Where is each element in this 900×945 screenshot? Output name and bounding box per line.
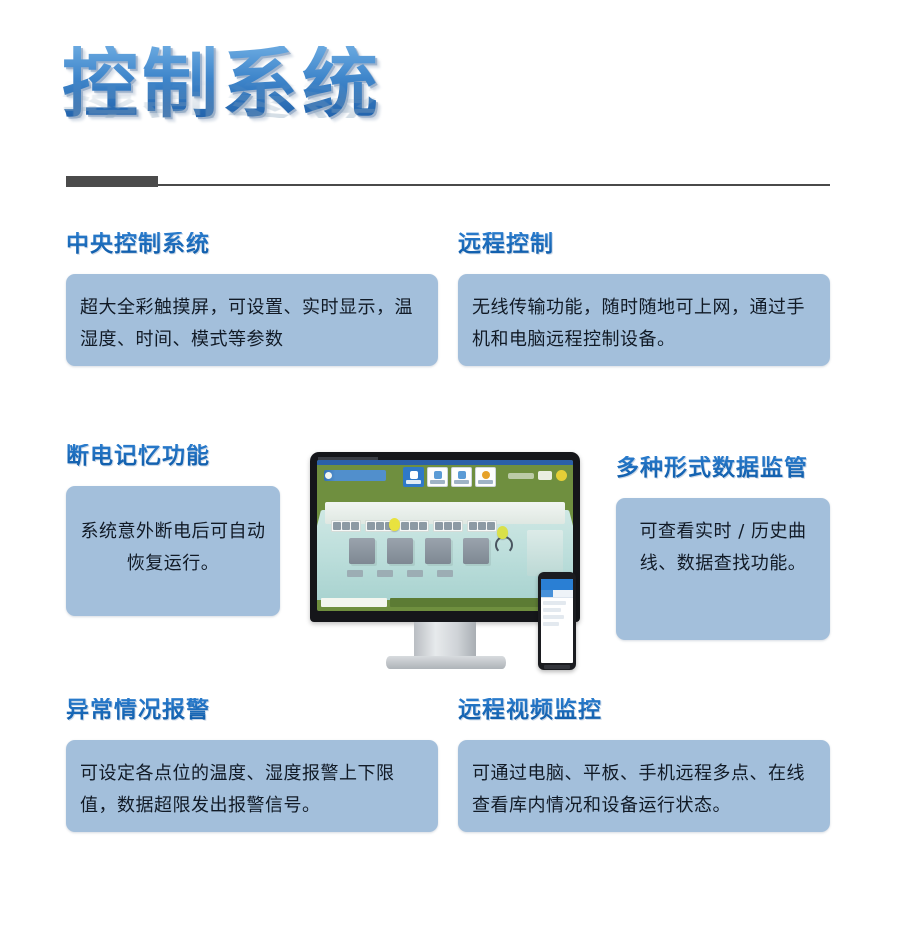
user-chip	[538, 471, 552, 480]
floor-pad	[377, 570, 393, 577]
feature-multi-form-data-supervision: 多种形式数据监管 可查看实时 / 历史曲线、数据查找功能。	[616, 456, 830, 640]
feature-body: 系统意外断电后可自动恢复运行。	[66, 486, 280, 616]
phone-tab-bar[interactable]	[541, 590, 573, 598]
nav-button-1[interactable]	[403, 467, 424, 487]
cabinet	[331, 520, 361, 532]
device-illustration	[310, 452, 595, 677]
monitor-icon	[410, 471, 418, 479]
poster-root: 控制系统 控制系统 中央控制系统 超大全彩触摸屏，可设置、实时显示，温湿度、时间…	[0, 0, 900, 945]
feature-body: 超大全彩触摸屏，可设置、实时显示，温湿度、时间、模式等参数	[66, 274, 438, 366]
nav-button-label	[478, 480, 493, 484]
report-icon	[458, 471, 466, 479]
nav-button-label	[454, 480, 469, 484]
nav-button-4[interactable]	[475, 467, 496, 487]
divider	[66, 176, 830, 188]
feature-body: 可设定各点位的温度、湿度报警上下限值，数据超限发出报警信号。	[66, 740, 438, 832]
feature-abnormal-condition-alarm: 异常情况报警 可设定各点位的温度、湿度报警上下限值，数据超限发出报警信号。	[66, 698, 438, 832]
alarm-icon	[482, 471, 490, 479]
monitor-stand-base	[386, 656, 506, 669]
equipment-unit	[387, 538, 413, 564]
cabinet	[399, 520, 429, 532]
screen-top-bar	[317, 460, 573, 465]
list-item	[543, 601, 566, 605]
list-item	[543, 608, 561, 612]
warehouse-3d-view	[321, 496, 569, 590]
bell-icon[interactable]	[556, 470, 567, 481]
sensor-icon[interactable]	[389, 518, 400, 531]
floor-pad	[437, 570, 453, 577]
data-icon	[434, 471, 442, 479]
dashboard-status-area	[508, 470, 567, 481]
equipment-unit	[349, 538, 375, 564]
feature-title: 多种形式数据监管	[616, 456, 830, 481]
feature-title: 异常情况报警	[66, 698, 438, 723]
warehouse-cabinet-row	[331, 520, 497, 532]
equipment-unit	[463, 538, 489, 564]
phone-list	[541, 598, 573, 632]
page-title-reflection: 控制系统	[62, 78, 482, 118]
phone-screen	[541, 579, 573, 663]
dashboard-logo-icon	[324, 470, 386, 481]
cabinet	[433, 520, 463, 532]
feature-central-control-system: 中央控制系统 超大全彩触摸屏，可设置、实时显示，温湿度、时间、模式等参数	[66, 232, 438, 366]
divider-line	[66, 184, 830, 186]
monitor-stand-neck	[414, 622, 476, 660]
dashboard-nav	[403, 467, 496, 487]
feature-title: 远程控制	[458, 232, 830, 257]
nav-button-3[interactable]	[451, 467, 472, 487]
warehouse-equipment-row	[349, 538, 489, 564]
smartphone	[538, 572, 576, 670]
warehouse-side-rack	[527, 530, 563, 576]
sensor-icon[interactable]	[497, 526, 508, 539]
feature-remote-control: 远程控制 无线传输功能，随时随地可上网，通过手机和电脑远程控制设备。	[458, 232, 830, 366]
screen-status-bar	[321, 598, 569, 607]
feature-title: 远程视频监控	[458, 698, 830, 723]
monitor-screen	[317, 460, 573, 611]
nav-button-label	[430, 480, 445, 484]
warehouse-pad-row	[347, 570, 453, 577]
feature-title: 中央控制系统	[66, 232, 438, 257]
feature-body: 可查看实时 / 历史曲线、数据查找功能。	[616, 498, 830, 640]
nav-button-label	[406, 480, 421, 484]
feature-power-failure-memory: 断电记忆功能 系统意外断电后可自动恢复运行。	[66, 444, 280, 616]
feature-body: 无线传输功能，随时随地可上网，通过手机和电脑远程控制设备。	[458, 274, 830, 366]
list-item	[543, 622, 559, 626]
floor-pad	[347, 570, 363, 577]
status-left	[321, 598, 387, 607]
feature-remote-video-monitoring: 远程视频监控 可通过电脑、平板、手机远程多点、在线查看库内情况和设备运行状态。	[458, 698, 830, 832]
list-item	[543, 615, 564, 619]
feature-body: 可通过电脑、平板、手机远程多点、在线查看库内情况和设备运行状态。	[458, 740, 830, 832]
cabinet	[467, 520, 497, 532]
feature-title: 断电记忆功能	[66, 444, 280, 469]
floor-pad	[407, 570, 423, 577]
page-title-block: 控制系统 控制系统	[62, 46, 482, 166]
nav-button-2[interactable]	[427, 467, 448, 487]
equipment-unit	[425, 538, 451, 564]
datetime-readout	[508, 473, 534, 479]
phone-app-header	[541, 579, 573, 590]
divider-accent	[66, 176, 158, 187]
